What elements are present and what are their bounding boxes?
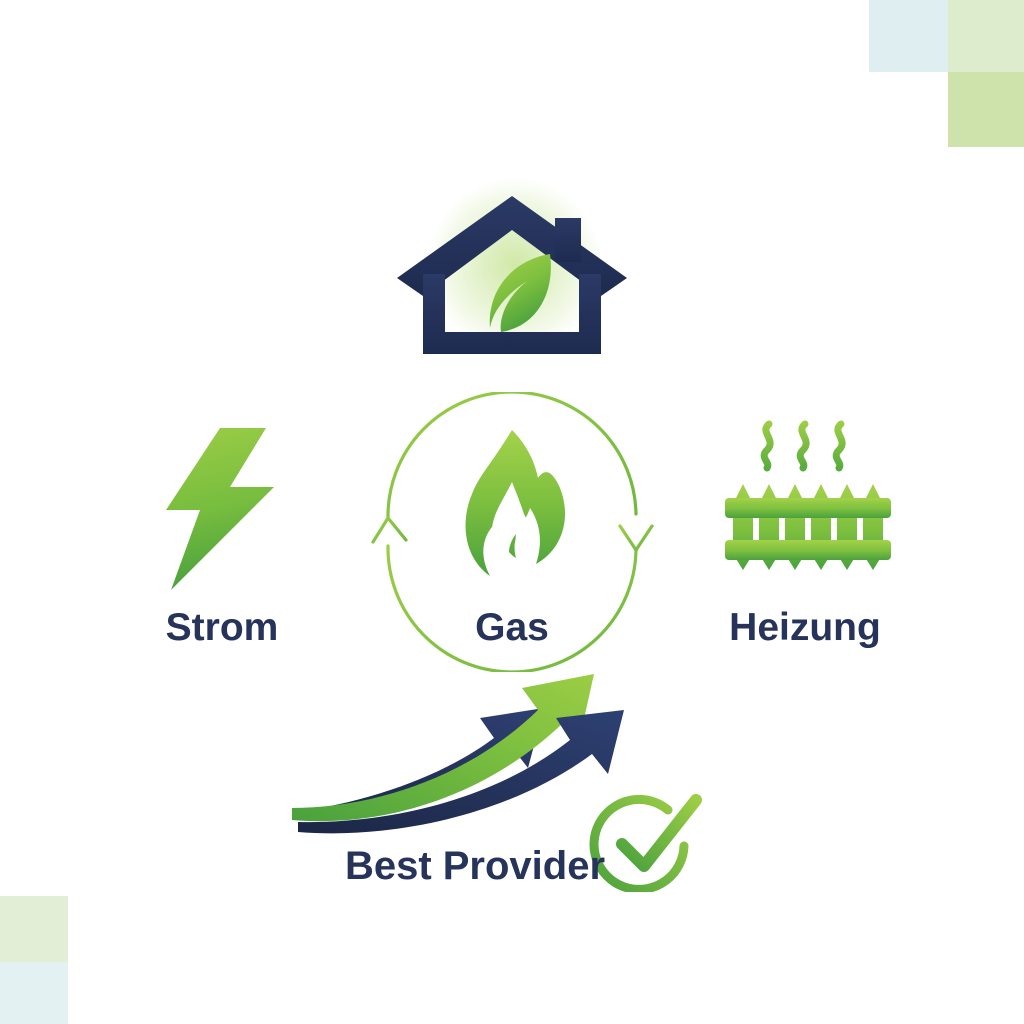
radiator-top-bar	[725, 498, 891, 518]
eco-house-icon	[387, 186, 637, 366]
poster-canvas: Strom	[0, 0, 1024, 1024]
lightning-bolt-icon	[142, 425, 302, 595]
deco-square-top-right-green	[948, 0, 1024, 72]
arrow-green	[292, 674, 594, 821]
deco-square-bottom-left-blue	[0, 962, 68, 1024]
flame-icon	[466, 430, 566, 576]
best-provider-label: Best Provider	[330, 846, 620, 886]
deco-square-top-right-blue	[869, 0, 948, 72]
heizung-item[interactable]	[698, 418, 913, 588]
eco-house-leaf-icon	[387, 186, 637, 366]
radiator-bottom-bar	[725, 540, 891, 560]
heizung-label: Heizung	[695, 608, 915, 647]
arrow-up-head-icon	[373, 518, 406, 542]
arrow-down-head-icon	[620, 526, 652, 550]
radiator-icon	[711, 418, 901, 588]
strom-label: Strom	[122, 608, 322, 647]
deco-square-bottom-left-green	[0, 896, 68, 962]
gas-label: Gas	[412, 608, 612, 647]
deco-square-top-right-green-2	[948, 72, 1024, 147]
heat-waves-icon	[764, 424, 842, 468]
strom-item[interactable]	[122, 425, 322, 595]
